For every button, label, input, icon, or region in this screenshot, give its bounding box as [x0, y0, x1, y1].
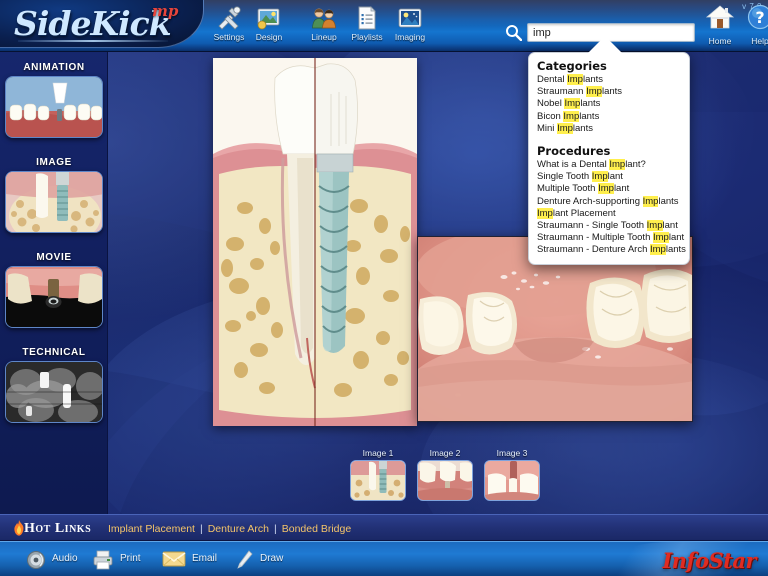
hot-links-separator: |	[274, 523, 277, 535]
technical-thumbnail[interactable]	[5, 361, 103, 423]
sidebar-item-technical[interactable]: TECHNICAL	[5, 347, 103, 423]
search-suggestions-panel: Categories Dental ImplantsStraumann Impl…	[528, 52, 690, 265]
suggestion-procedure-1[interactable]: Single Tooth Implant	[537, 171, 681, 183]
match-highlight: Imp	[598, 183, 614, 194]
toolbar-label: Design	[245, 32, 293, 42]
toolbar-label: Lineup	[300, 32, 348, 42]
home-icon	[705, 18, 735, 35]
print-button[interactable]: Print	[92, 550, 162, 570]
match-highlight: Imp	[567, 74, 583, 85]
home-button[interactable]: Home	[700, 3, 740, 50]
movie-thumbnail[interactable]	[5, 266, 103, 328]
match-highlight: Imp	[563, 111, 579, 122]
brand-logo-text: SideKick	[14, 4, 171, 43]
suggestion-procedure-0[interactable]: What is a Dental Implant?	[537, 159, 681, 171]
match-highlight: Imp	[564, 98, 580, 109]
toolbar-button-playlists[interactable]: Playlists	[343, 4, 391, 50]
suggestions-pointer	[588, 36, 622, 53]
hot-link-bonded-bridge[interactable]: Bonded Bridge	[282, 523, 351, 535]
speaker-icon	[26, 557, 46, 574]
suggestion-category-1[interactable]: Straumann Implants	[537, 86, 681, 98]
sidebar-item-label: IMAGE	[5, 157, 103, 168]
match-highlight: Imp	[653, 232, 669, 243]
image-thumbnail[interactable]	[5, 171, 103, 233]
photo-imaging-icon	[386, 4, 434, 31]
thumbnail-label: Image 3	[484, 448, 540, 458]
hot-links-title: Hot Links	[24, 521, 91, 537]
print-label: Print	[120, 553, 141, 564]
sidebar-item-image[interactable]: IMAGE	[5, 157, 103, 233]
suggestions-categories-list: Dental ImplantsStraumann ImplantsNobel I…	[537, 74, 681, 135]
suggestion-category-3[interactable]: Bicon Implants	[537, 111, 681, 123]
thumbnail-image-3[interactable]: Image 3	[484, 448, 540, 501]
help-label: Help	[740, 36, 768, 46]
match-highlight: Imp	[557, 123, 573, 134]
hot-links-bar: Hot Links Implant Placement|Denture Arch…	[0, 514, 768, 541]
suggestion-procedure-5[interactable]: Straumann - Single Tooth Implant	[537, 220, 681, 232]
help-button[interactable]: ? Help	[740, 3, 768, 50]
thumbnail-image-1[interactable]: Image 1	[350, 448, 406, 501]
sidebar-item-animation[interactable]: ANIMATION	[5, 62, 103, 138]
search-icon[interactable]	[505, 24, 522, 41]
audio-label: Audio	[52, 553, 78, 564]
suggestion-procedure-4[interactable]: Implant Placement	[537, 208, 681, 220]
match-highlight: Imp	[647, 220, 663, 231]
match-highlight: Imp	[586, 86, 602, 97]
people-lineup-icon	[300, 4, 348, 31]
suggestion-procedure-6[interactable]: Straumann - Multiple Tooth Implant	[537, 232, 681, 244]
sidebar-item-label: MOVIE	[5, 252, 103, 263]
thumbnail-image-2[interactable]: Image 2	[417, 448, 473, 501]
sidebar-item-label: TECHNICAL	[5, 347, 103, 358]
hot-link-implant-placement[interactable]: Implant Placement	[108, 523, 195, 535]
svg-text:?: ?	[755, 8, 764, 27]
draw-label: Draw	[260, 553, 283, 564]
sidebar-item-movie[interactable]: MOVIE	[5, 252, 103, 328]
suggestion-category-0[interactable]: Dental Implants	[537, 74, 681, 86]
suggestions-procedures-heading: Procedures	[537, 144, 681, 158]
left-sidebar: ANIMATION	[0, 52, 108, 514]
hot-links-separator: |	[200, 523, 203, 535]
suggestions-categories-heading: Categories	[537, 59, 681, 73]
match-highlight: Imp	[650, 244, 666, 255]
thumbnail-label: Image 2	[417, 448, 473, 458]
infostar-logo: InfoStar	[662, 548, 756, 573]
hot-links-list: Implant Placement|Denture Arch|Bonded Br…	[108, 523, 351, 535]
picture-design-icon	[245, 4, 293, 31]
suggestions-procedures-list: What is a Dental Implant?Single Tooth Im…	[537, 159, 681, 257]
thumbnail-preview[interactable]	[417, 460, 473, 501]
help-icon: ?	[746, 18, 768, 35]
toolbar-button-imaging[interactable]: Imaging	[386, 4, 434, 50]
list-document-icon	[343, 4, 391, 31]
main-image-viewer[interactable]	[213, 58, 417, 426]
brand-logo-suffix: mp	[152, 2, 178, 20]
image-thumbnail-strip: Image 1	[350, 448, 540, 506]
thumbnail-label: Image 1	[350, 448, 406, 458]
sidebar-item-label: ANIMATION	[5, 62, 103, 73]
match-highlight: Imp	[609, 159, 625, 170]
match-highlight: Imp	[537, 208, 553, 219]
top-header-bar: SideKick mp v 7.0 Settings	[0, 0, 768, 52]
toolbar-button-lineup[interactable]: Lineup	[300, 4, 348, 50]
draw-button[interactable]: Draw	[236, 550, 302, 570]
email-button[interactable]: Email	[162, 550, 232, 570]
thumbnail-preview[interactable]	[484, 460, 540, 501]
suggestion-procedure-3[interactable]: Denture Arch-supporting Implants	[537, 196, 681, 208]
toolbar-label: Playlists	[343, 32, 391, 42]
sidekick-application-window: ANIMATION	[0, 0, 768, 576]
pencil-icon	[236, 557, 254, 574]
animation-thumbnail[interactable]	[5, 76, 103, 138]
suggestion-category-4[interactable]: Mini Implants	[537, 123, 681, 135]
email-label: Email	[192, 553, 217, 564]
suggestion-procedure-2[interactable]: Multiple Tooth Implant	[537, 183, 681, 195]
toolbar-label: Imaging	[386, 32, 434, 42]
envelope-icon	[162, 555, 186, 572]
hot-link-denture-arch[interactable]: Denture Arch	[208, 523, 269, 535]
suggestion-procedure-7[interactable]: Straumann - Denture Arch Implants	[537, 244, 681, 256]
brand-logo-underline	[18, 40, 168, 42]
match-highlight: Imp	[643, 196, 659, 207]
thumbnail-preview[interactable]	[350, 460, 406, 501]
bottom-toolbar: Audio Print Email	[0, 541, 768, 576]
printer-icon	[92, 557, 114, 574]
suggestion-category-2[interactable]: Nobel Implants	[537, 98, 681, 110]
toolbar-button-design[interactable]: Design	[245, 4, 293, 50]
match-highlight: Imp	[592, 171, 608, 182]
home-label: Home	[700, 36, 740, 46]
audio-button[interactable]: Audio	[26, 550, 96, 570]
